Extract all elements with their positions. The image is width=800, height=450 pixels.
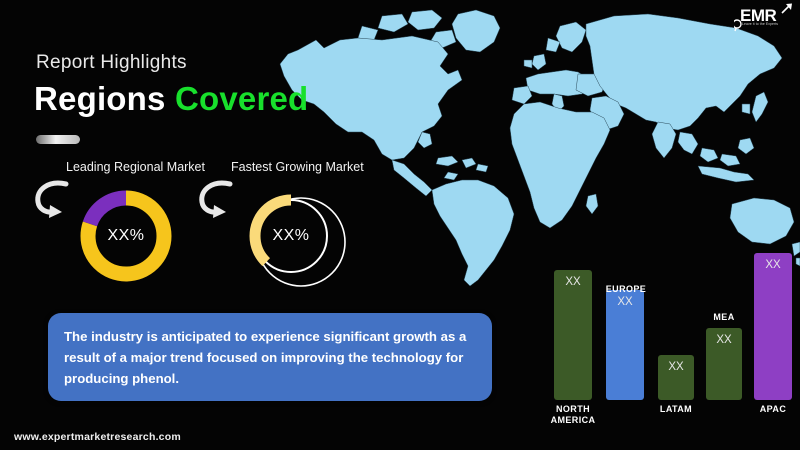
page-title-main: Regions — [34, 80, 175, 117]
region-bar-chart: XX NORTH AMERICA XX EUROPE XX LATAM XX M… — [548, 270, 800, 445]
bar-europe: XX — [606, 290, 644, 400]
logo-tagline: Leave it to the Experts — [742, 22, 778, 26]
page-kicker: Report Highlights — [36, 52, 187, 74]
callout-box: The industry is anticipated to experienc… — [48, 313, 492, 401]
donut-chart-0: XX% — [76, 186, 176, 286]
page-title: Regions Covered — [34, 80, 308, 118]
curved-arrow-icon-0 — [32, 178, 76, 218]
donut-value-0: XX% — [76, 186, 176, 286]
bar-value-apac: XX — [754, 259, 792, 271]
title-underline-dash — [36, 135, 80, 144]
bar-label-mea: MEA — [696, 312, 752, 323]
bar-value-latam: XX — [658, 361, 694, 373]
bar-value-mea: XX — [706, 334, 742, 346]
bar-mea: XX — [706, 328, 742, 400]
donut-chart-1: XX% — [243, 186, 351, 294]
bar-north-america: XX — [554, 270, 592, 400]
donut-caption-0: Leading Regional Market — [66, 160, 205, 174]
bar-label-north-america: NORTH AMERICA — [542, 404, 604, 426]
donut-value-1: XX% — [243, 186, 339, 286]
donut-caption-1: Fastest Growing Market — [231, 160, 364, 174]
footer-website-url[interactable]: www.expertmarketresearch.com — [14, 431, 181, 443]
slide-canvas: Report Highlights Regions Covered Leadin… — [0, 0, 800, 450]
bar-value-europe: XX — [606, 296, 644, 308]
bar-label-europe: EUROPE — [598, 284, 654, 295]
curved-arrow-icon-1 — [196, 178, 240, 218]
bar-apac: XX — [754, 253, 792, 400]
callout-text: The industry is anticipated to experienc… — [64, 326, 474, 389]
emr-logo[interactable]: EMR Leave it to the Experts — [734, 2, 796, 32]
bar-label-latam: LATAM — [648, 404, 704, 415]
page-title-accent: Covered — [175, 80, 308, 117]
bar-label-apac: APAC — [744, 404, 800, 415]
bar-value-north-america: XX — [554, 276, 592, 288]
bar-latam: XX — [658, 355, 694, 400]
